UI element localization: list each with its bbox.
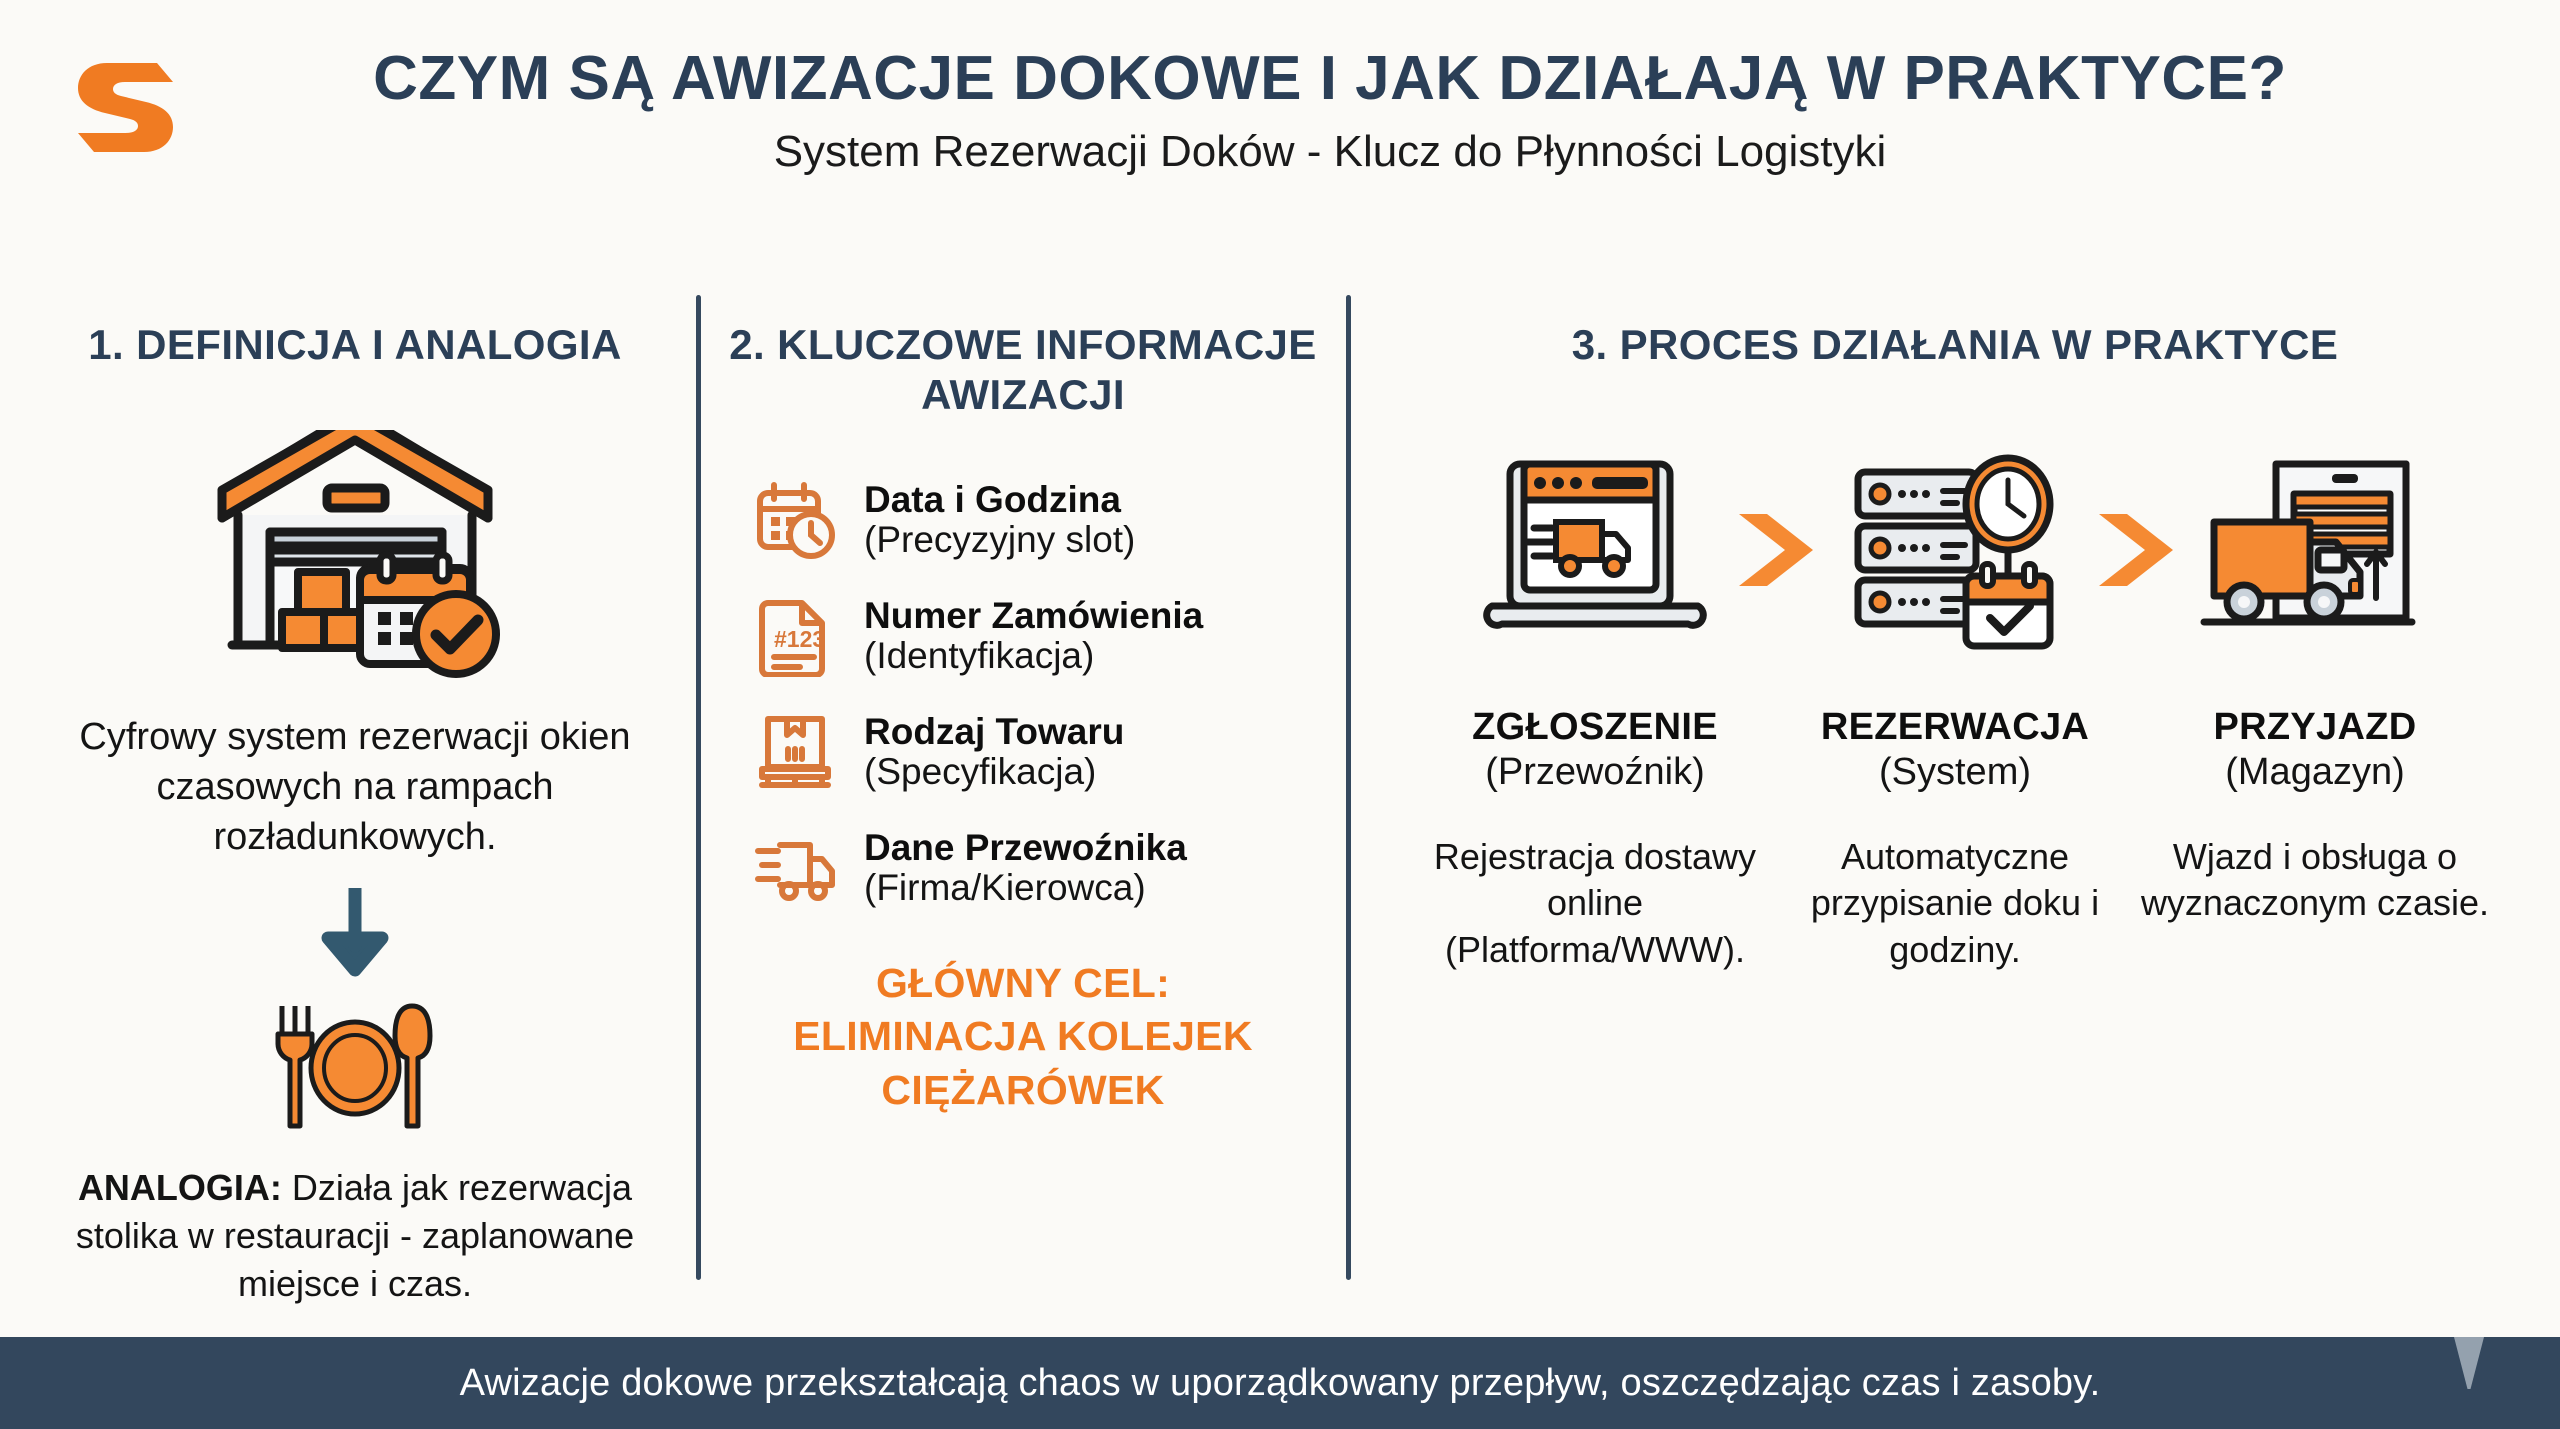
column-divider-right bbox=[1346, 295, 1351, 1280]
list-item-title: Data i Godzina bbox=[864, 480, 1135, 520]
mouse-cursor-icon bbox=[2454, 1337, 2484, 1389]
footer-banner: Awizacje dokowe przekształcają chaos w u… bbox=[0, 1337, 2560, 1429]
arrow-right-icon bbox=[2075, 504, 2195, 596]
title-block: CZYM SĄ AWIZACJE DOKOWE I JAK DZIAŁAJĄ W… bbox=[230, 46, 2430, 178]
infographic-page: CZYM SĄ AWIZACJE DOKOWE I JAK DZIAŁAJĄ W… bbox=[0, 0, 2560, 1429]
process-step-description: Rejestracja dostawy online (Platforma/WW… bbox=[1415, 834, 1775, 974]
process-step-name: REZERWACJA bbox=[1775, 706, 2135, 749]
arrow-right-icon bbox=[1715, 504, 1835, 596]
list-item[interactable]: Dane Przewoźnika (Firma/Kierowca) bbox=[752, 825, 1340, 911]
list-item-title: Dane Przewoźnika bbox=[864, 828, 1187, 868]
header: CZYM SĄ AWIZACJE DOKOWE I JAK DZIAŁAJĄ W… bbox=[0, 0, 2560, 230]
document-number-icon: #123 bbox=[752, 593, 838, 679]
process-step-actor: (System) bbox=[1775, 751, 2135, 794]
list-item-subtitle: (Firma/Kierowca) bbox=[864, 868, 1187, 908]
column-definition-heading: 1. DEFINICJA I ANALOGIA bbox=[30, 320, 680, 370]
column-key-info-heading: 2. KLUCZOWE INFORMACJE AWIZACJI bbox=[706, 320, 1340, 419]
process-step-actor: (Przewoźnik) bbox=[1415, 751, 1775, 794]
delivery-truck-icon bbox=[752, 825, 838, 911]
key-info-list: Data i Godzina (Precyzyjny slot) #123 Nu… bbox=[706, 477, 1340, 911]
column-process-heading: 3. PROCES DZIAŁANIA W PRAKTYCE bbox=[1360, 320, 2550, 370]
process-flow-diagram bbox=[1360, 440, 2550, 660]
laptop-truck-icon bbox=[1475, 440, 1715, 660]
page-title: CZYM SĄ AWIZACJE DOKOWE I JAK DZIAŁAJĄ W… bbox=[230, 46, 2430, 113]
stylized-s-logo-icon bbox=[60, 45, 190, 170]
column-divider-left bbox=[696, 295, 701, 1280]
process-step-3: PRZYJAZD (Magazyn) Wjazd i obsługa o wyz… bbox=[2135, 706, 2495, 974]
process-step-2: REZERWACJA (System) Automatyczne przypis… bbox=[1775, 706, 2135, 974]
list-item-subtitle: (Precyzyjny slot) bbox=[864, 520, 1135, 560]
column-definition: 1. DEFINICJA I ANALOGIA bbox=[30, 320, 680, 1309]
main-goal-line-2: ELIMINACJA KOLEJEK bbox=[706, 1010, 1340, 1063]
process-step-description: Wjazd i obsługa o wyznaczonym czasie. bbox=[2135, 834, 2495, 928]
process-step-1: ZGŁOSZENIE (Przewoźnik) Rejestracja dost… bbox=[1415, 706, 1775, 974]
calendar-clock-icon bbox=[752, 477, 838, 563]
footer-text: Awizacje dokowe przekształcają chaos w u… bbox=[460, 1362, 2101, 1405]
definition-analogy: ANALOGIA: Działa jak rezerwacja stolika … bbox=[30, 1164, 680, 1309]
process-step-name: ZGŁOSZENIE bbox=[1415, 706, 1775, 749]
main-goal-line-3: CIĘŻARÓWEK bbox=[706, 1064, 1340, 1117]
pallet-box-icon bbox=[752, 709, 838, 795]
column-process: 3. PROCES DZIAŁANIA W PRAKTYCE bbox=[1360, 320, 2550, 974]
list-item-title: Rodzaj Towaru bbox=[864, 712, 1124, 752]
column-key-info: 2. KLUCZOWE INFORMACJE AWIZACJI bbox=[706, 320, 1340, 1117]
list-item[interactable]: Data i Godzina (Precyzyjny slot) bbox=[752, 477, 1340, 563]
list-item[interactable]: Rodzaj Towaru (Specyfikacja) bbox=[752, 709, 1340, 795]
process-step-name: PRZYJAZD bbox=[2135, 706, 2495, 749]
document-number-text: #123 bbox=[774, 626, 825, 652]
analogy-label: ANALOGIA: bbox=[78, 1167, 282, 1208]
server-clock-calendar-icon bbox=[1835, 440, 2075, 660]
list-item-subtitle: (Identyfikacja) bbox=[864, 636, 1203, 676]
page-subtitle: System Rezerwacji Doków - Klucz do Płynn… bbox=[230, 127, 2430, 178]
process-step-actor: (Magazyn) bbox=[2135, 751, 2495, 794]
process-step-labels: ZGŁOSZENIE (Przewoźnik) Rejestracja dost… bbox=[1360, 706, 2550, 974]
fork-plate-knife-icon bbox=[30, 1002, 680, 1130]
list-item[interactable]: #123 Numer Zamówienia (Identyfikacja) bbox=[752, 593, 1340, 679]
process-step-description: Automatyczne przypisanie doku i godziny. bbox=[1775, 834, 2135, 974]
main-goal-callout: GŁÓWNY CEL: ELIMINACJA KOLEJEK CIĘŻARÓWE… bbox=[706, 957, 1340, 1117]
truck-dock-icon bbox=[2195, 440, 2435, 660]
list-item-subtitle: (Specyfikacja) bbox=[864, 752, 1124, 792]
definition-description: Cyfrowy system rezerwacji okien czasowyc… bbox=[30, 712, 680, 862]
arrow-down-icon bbox=[30, 888, 680, 980]
list-item-title: Numer Zamówienia bbox=[864, 596, 1203, 636]
main-goal-line-1: GŁÓWNY CEL: bbox=[706, 957, 1340, 1010]
warehouse-calendar-check-icon bbox=[30, 430, 680, 680]
